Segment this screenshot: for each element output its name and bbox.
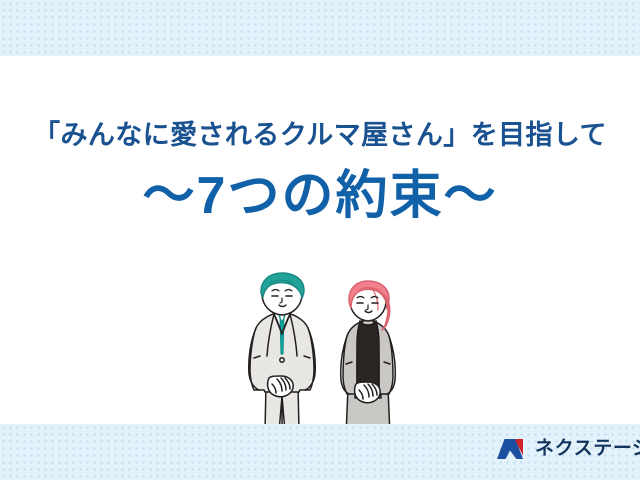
bowing-staff-illustration	[236, 272, 416, 437]
headline-primary-text: 「みんなに愛されるクルマ屋さん」を目指して	[0, 118, 640, 152]
nextage-logo: ネクステージ	[496, 434, 640, 464]
staff-illustration-svg	[236, 272, 416, 437]
female-staff-figure	[341, 281, 396, 435]
nextage-logo-text: ネクステージ	[535, 437, 640, 461]
male-staff-figure	[249, 273, 315, 432]
nextage-n-mark-icon	[496, 437, 528, 461]
headline-secondary-text: ～7つの約束～	[0, 166, 640, 226]
headline-block: 「みんなに愛されるクルマ屋さん」を目指して ～7つの約束～	[0, 118, 640, 226]
promotional-banner: 「みんなに愛されるクルマ屋さん」を目指して ～7つの約束～	[0, 0, 640, 480]
top-dotted-band	[0, 0, 640, 56]
